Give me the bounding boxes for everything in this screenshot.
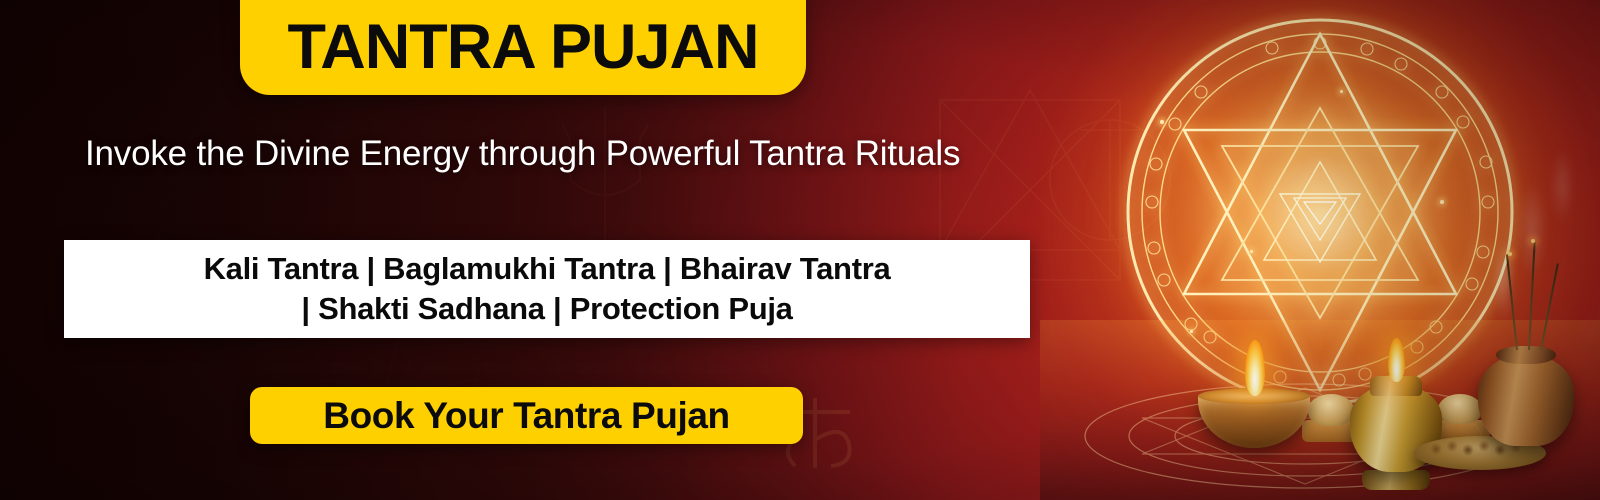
kalash-foot <box>1362 470 1430 490</box>
page-title: TANTRA PUJAN <box>288 16 759 95</box>
cta-label: Book Your Tantra Pujan <box>323 395 729 437</box>
incense-ember-1 <box>1508 252 1512 256</box>
sweet-laddu-1 <box>1308 394 1354 426</box>
services-box: Kali Tantra | Baglamukhi Tantra | Bhaira… <box>64 240 1030 338</box>
sparkle-1 <box>1160 120 1164 124</box>
services-lines: Kali Tantra | Baglamukhi Tantra | Bhaira… <box>204 249 891 328</box>
copper-pot-mouth <box>1496 346 1556 364</box>
subtitle-text: Invoke the Divine Energy through Powerfu… <box>85 134 960 174</box>
sparkle-4 <box>1440 200 1444 204</box>
puja-artwork <box>1040 0 1600 500</box>
title-tab: TANTRA PUJAN <box>240 0 806 95</box>
sparkle-2 <box>1340 90 1343 93</box>
book-tantra-pujan-button[interactable]: Book Your Tantra Pujan <box>250 387 803 444</box>
sweet-laddu-2 <box>1438 394 1482 424</box>
incense-ember-2 <box>1531 239 1535 243</box>
sparkle-5 <box>1190 330 1193 333</box>
sparkle-3 <box>1250 250 1253 253</box>
services-line-1: Kali Tantra | Baglamukhi Tantra | Bhaira… <box>204 249 891 289</box>
incense-smoke <box>1470 130 1600 330</box>
tantra-pujan-banner: TANTRA PUJAN Invoke the Divine Energy th… <box>0 0 1600 500</box>
copper-pot <box>1478 354 1574 446</box>
services-line-2: | Shakti Sadhana | Protection Puja <box>204 289 891 329</box>
